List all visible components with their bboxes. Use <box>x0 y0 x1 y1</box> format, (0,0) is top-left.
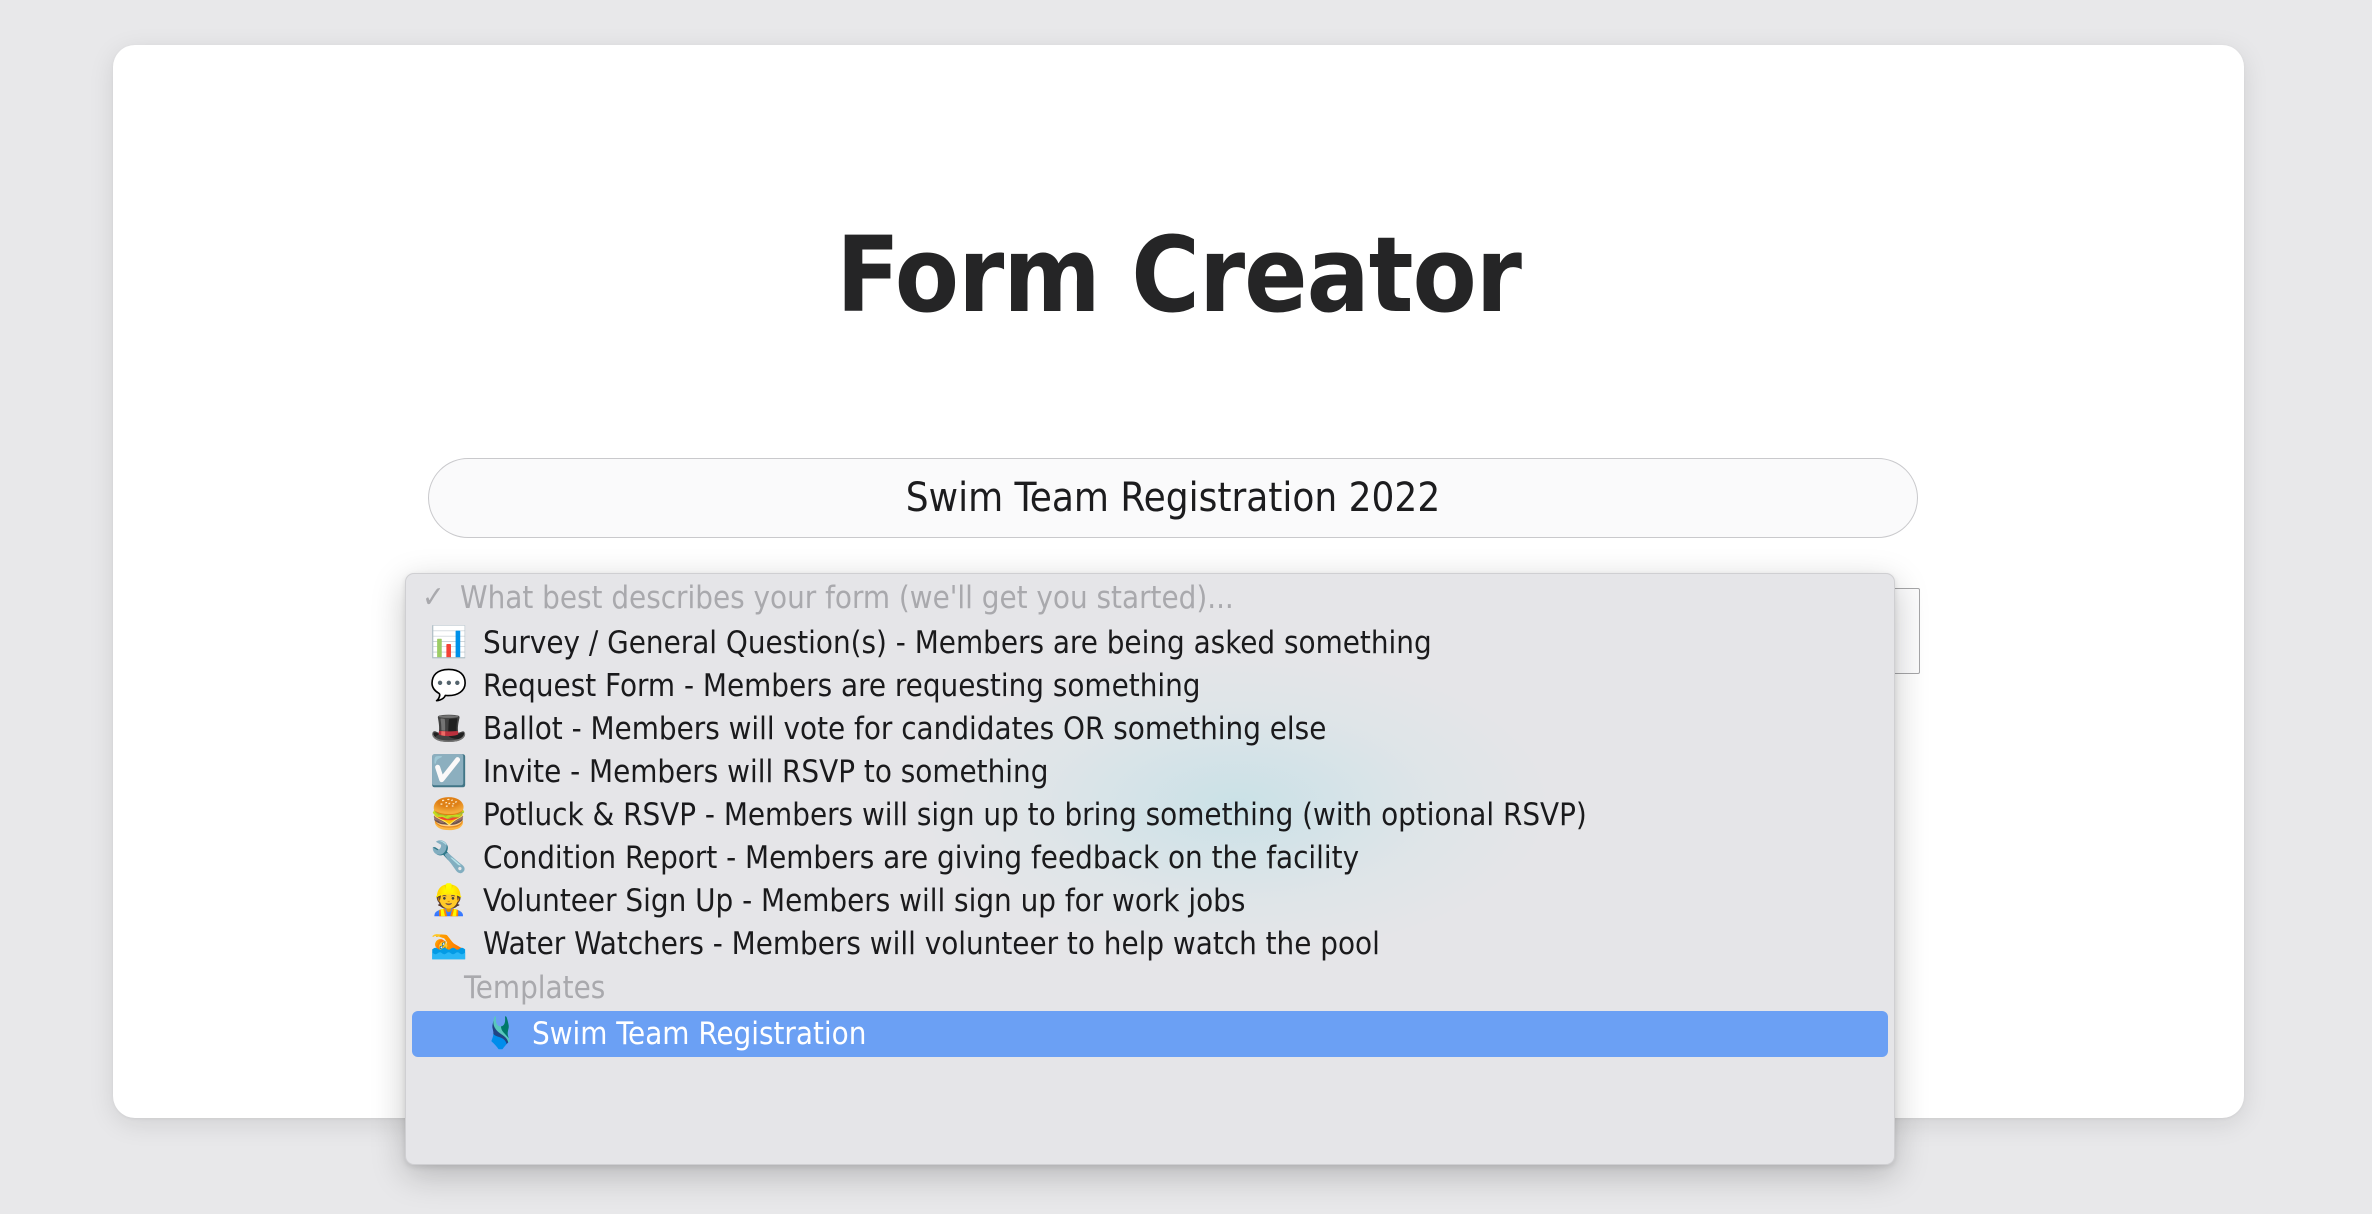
dropdown-option-water-watchers[interactable]: 🏊 Water Watchers - Members will voluntee… <box>406 922 1894 965</box>
dropdown-option-invite[interactable]: ☑️ Invite - Members will RSVP to somethi… <box>406 750 1894 793</box>
dropdown-option-label: Request Form - Members are requesting so… <box>483 668 1201 704</box>
swimmer-emoji: 🏊 <box>430 929 483 959</box>
dropdown-option-label: Swim Team Registration <box>532 1016 866 1052</box>
checkmark-icon: ✓ <box>422 580 460 615</box>
dropdown-option-label: Condition Report - Members are giving fe… <box>483 840 1359 876</box>
dropdown-option-potluck-rsvp[interactable]: 🍔 Potluck & RSVP - Members will sign up … <box>406 793 1894 836</box>
dropdown-option-volunteer-sign-up[interactable]: 👷 Volunteer Sign Up - Members will sign … <box>406 879 1894 922</box>
hamburger-emoji: 🍔 <box>430 800 483 830</box>
dropdown-option-label: Ballot - Members will vote for candidate… <box>483 711 1326 747</box>
form-type-dropdown-menu[interactable]: ✓ What best describes your form (we'll g… <box>405 573 1895 1165</box>
dropdown-option-request-form[interactable]: 💬 Request Form - Members are requesting … <box>406 664 1894 707</box>
ballot-box-check-emoji: ☑️ <box>430 757 483 787</box>
dropdown-option-survey[interactable]: 📊 Survey / General Question(s) - Members… <box>406 621 1894 664</box>
dropdown-option-swim-team-registration[interactable]: 🩱 Swim Team Registration <box>412 1011 1888 1057</box>
dropdown-option-label: Survey / General Question(s) - Members a… <box>483 625 1432 661</box>
page-title: Form Creator <box>113 223 2244 327</box>
wrench-emoji: 🔧 <box>430 843 483 873</box>
dropdown-option-label: Potluck & RSVP - Members will sign up to… <box>483 797 1587 833</box>
form-name-input[interactable] <box>428 458 1918 538</box>
dropdown-option-ballot[interactable]: 🎩 Ballot - Members will vote for candida… <box>406 707 1894 750</box>
dropdown-group-label-templates: Templates <box>406 965 1894 1011</box>
dropdown-option-placeholder[interactable]: ✓ What best describes your form (we'll g… <box>406 574 1894 621</box>
dropdown-option-label: Volunteer Sign Up - Members will sign up… <box>483 883 1245 919</box>
construction-worker-emoji: 👷 <box>430 886 483 916</box>
speech-balloon-emoji: 💬 <box>430 671 483 701</box>
bar-chart-emoji: 📊 <box>430 628 483 658</box>
dropdown-option-condition-report[interactable]: 🔧 Condition Report - Members are giving … <box>406 836 1894 879</box>
dropdown-option-label: Water Watchers - Members will volunteer … <box>483 926 1380 962</box>
one-piece-swimsuit-emoji: 🩱 <box>482 1019 532 1049</box>
dropdown-option-label: What best describes your form (we'll get… <box>460 580 1234 616</box>
top-hat-emoji: 🎩 <box>430 714 483 744</box>
dropdown-option-label: Invite - Members will RSVP to something <box>483 754 1048 790</box>
